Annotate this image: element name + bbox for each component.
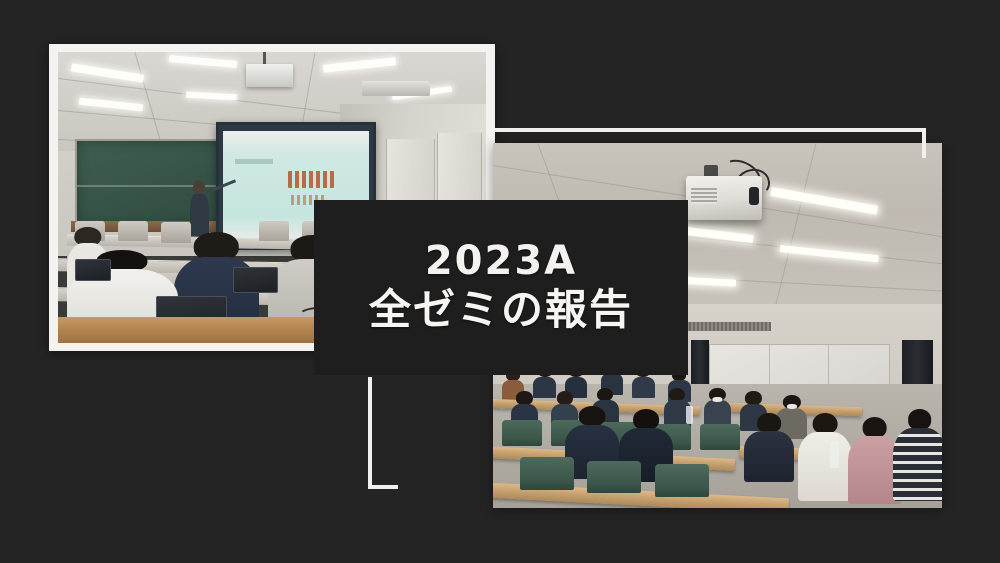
slide-title-text <box>288 171 335 189</box>
title-heading: 全ゼミの報告 <box>369 286 633 334</box>
chair <box>655 464 709 497</box>
chair <box>700 424 740 450</box>
student <box>893 409 942 500</box>
laptop <box>233 267 278 292</box>
water-bottle <box>686 406 693 424</box>
student <box>798 413 852 501</box>
student <box>704 388 731 428</box>
title-card: 2023A 全ゼミの報告 <box>314 200 688 375</box>
photo-2-corner-bracket-bottom-left <box>368 377 398 489</box>
laptop <box>75 259 111 281</box>
chair <box>502 420 542 446</box>
ceiling-projector-icon <box>246 64 293 87</box>
chair <box>520 457 574 490</box>
chair <box>587 461 641 494</box>
water-bottle <box>830 442 839 468</box>
seat <box>118 221 148 241</box>
presentation-slide: 2023A 全ゼミの報告 <box>0 0 1000 563</box>
student <box>744 413 793 482</box>
title-year: 2023A <box>425 240 577 282</box>
ceiling-projector-icon <box>686 176 762 220</box>
air-conditioner <box>362 81 430 96</box>
